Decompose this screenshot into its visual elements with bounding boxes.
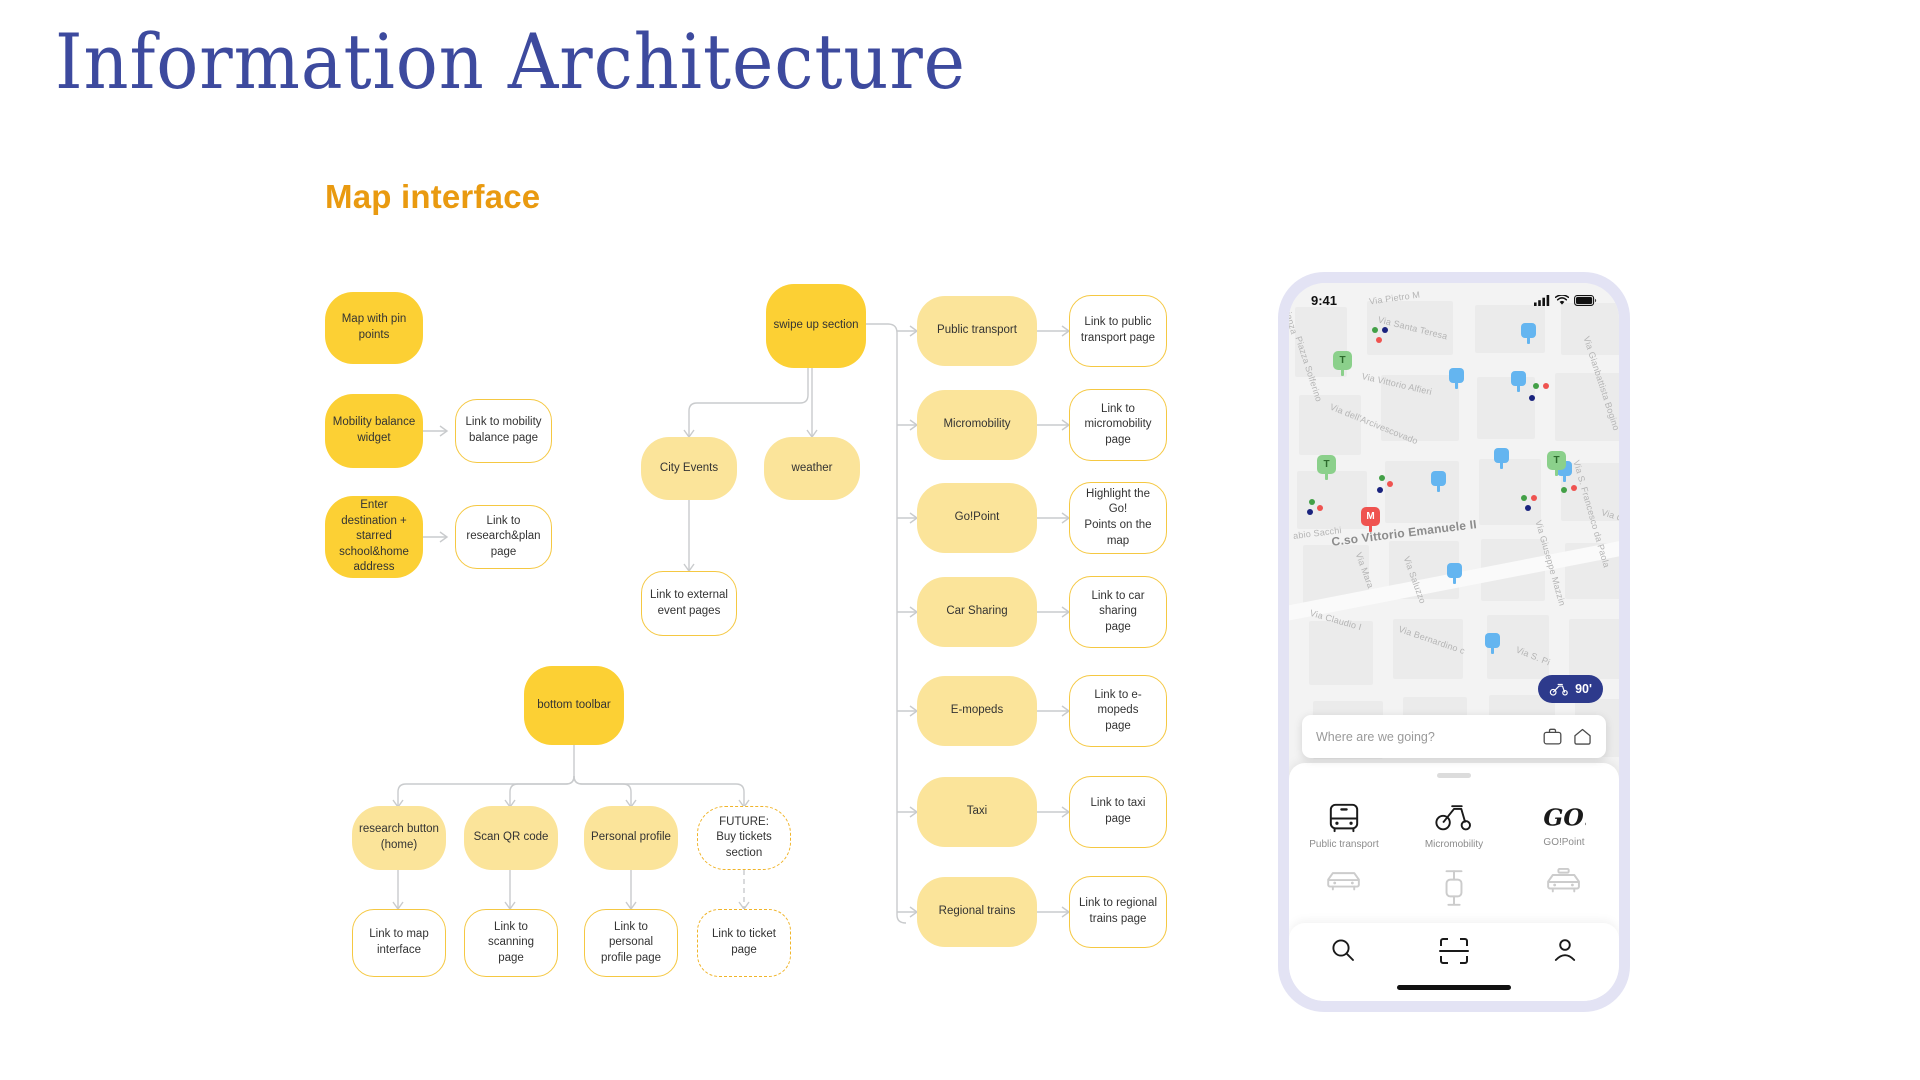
node-bottom-toolbar[interactable]: bottom toolbar bbox=[524, 666, 624, 745]
taxi-icon bbox=[1544, 868, 1584, 896]
eta-badge[interactable]: 90' bbox=[1538, 675, 1603, 703]
status-icons bbox=[1534, 295, 1597, 306]
cluster-dot[interactable] bbox=[1571, 485, 1577, 491]
node-link-mobility-balance[interactable]: Link to mobility balance page bbox=[455, 399, 552, 463]
car-icon bbox=[1324, 868, 1364, 894]
node-link-car-sharing[interactable]: Link to car sharing page bbox=[1069, 576, 1167, 648]
map-pin[interactable] bbox=[1449, 368, 1464, 383]
tab-profile[interactable] bbox=[1552, 937, 1578, 968]
node-link-personal-profile[interactable]: Link to personal profile page bbox=[584, 909, 678, 977]
t-marker[interactable]: T bbox=[1547, 451, 1566, 470]
m-marker[interactable]: M bbox=[1361, 507, 1380, 526]
mode-car-sharing[interactable] bbox=[1289, 861, 1399, 920]
cluster-dot[interactable] bbox=[1531, 495, 1537, 501]
eta-label: 90' bbox=[1575, 682, 1592, 696]
node-link-ticket-page[interactable]: Link to ticket page bbox=[697, 909, 791, 977]
cluster-dot[interactable] bbox=[1382, 327, 1388, 333]
home-icon[interactable] bbox=[1573, 728, 1592, 745]
t-marker[interactable]: T bbox=[1333, 351, 1352, 370]
bottom-tab-bar bbox=[1289, 923, 1619, 1001]
node-research-button[interactable]: research button (home) bbox=[352, 806, 446, 870]
mode-label: Public transport bbox=[1309, 839, 1378, 850]
node-city-events[interactable]: City Events bbox=[641, 437, 737, 500]
qr-scan-icon bbox=[1439, 937, 1469, 965]
t-marker[interactable]: T bbox=[1317, 455, 1336, 474]
node-link-map-interface[interactable]: Link to map interface bbox=[352, 909, 446, 977]
cluster-dot[interactable] bbox=[1317, 505, 1323, 511]
briefcase-icon[interactable] bbox=[1543, 728, 1562, 745]
node-car-sharing[interactable]: Car Sharing bbox=[917, 577, 1037, 647]
map-pin[interactable] bbox=[1447, 563, 1462, 578]
status-bar: 9:41 bbox=[1289, 283, 1619, 317]
node-link-external-event[interactable]: Link to external event pages bbox=[641, 571, 737, 636]
node-personal-profile[interactable]: Personal profile bbox=[584, 806, 678, 870]
node-weather[interactable]: weather bbox=[764, 437, 860, 500]
status-clock: 9:41 bbox=[1311, 293, 1337, 308]
signal-bars-icon bbox=[1534, 295, 1550, 306]
go-logo-icon: GO! bbox=[1542, 802, 1586, 832]
mode-label: GO!Point bbox=[1543, 837, 1584, 848]
map-view[interactable]: Via Pietro M Via Santa Teresa Piazza Sol… bbox=[1289, 283, 1619, 783]
node-map-pin-points[interactable]: Map with pin points bbox=[325, 292, 423, 364]
cluster-dot[interactable] bbox=[1533, 383, 1539, 389]
cluster-dot[interactable] bbox=[1309, 499, 1315, 505]
cluster-dot[interactable] bbox=[1376, 337, 1382, 343]
bus-icon bbox=[1326, 802, 1362, 834]
map-pin[interactable] bbox=[1511, 371, 1526, 386]
cluster-dot[interactable] bbox=[1377, 487, 1383, 493]
section-title: Map interface bbox=[325, 178, 540, 216]
battery-icon bbox=[1574, 295, 1597, 306]
cluster-dot[interactable] bbox=[1529, 395, 1535, 401]
node-link-scanning-page[interactable]: Link to scanning page bbox=[464, 909, 558, 977]
phone-screen: Via Pietro M Via Santa Teresa Piazza Sol… bbox=[1289, 283, 1619, 1001]
node-link-regional-trains[interactable]: Link to regional trains page bbox=[1069, 876, 1167, 948]
cluster-dot[interactable] bbox=[1561, 487, 1567, 493]
node-micromobility[interactable]: Micromobility bbox=[917, 390, 1037, 460]
node-future-buy-tickets[interactable]: FUTURE: Buy tickets section bbox=[697, 806, 791, 870]
mode-micromobility[interactable]: Micromobility bbox=[1399, 795, 1509, 857]
node-link-micromobility[interactable]: Link to micromobility page bbox=[1069, 389, 1167, 461]
sheet-grabber[interactable] bbox=[1437, 773, 1471, 778]
cluster-dot[interactable] bbox=[1372, 327, 1378, 333]
moped-icon bbox=[1434, 802, 1474, 834]
home-indicator bbox=[1397, 985, 1511, 990]
tab-scan[interactable] bbox=[1439, 937, 1469, 970]
mode-label: Micromobility bbox=[1425, 839, 1483, 850]
node-link-research-plan[interactable]: Link to research&plan page bbox=[455, 505, 552, 569]
node-go-point[interactable]: Go!Point bbox=[917, 483, 1037, 553]
cluster-dot[interactable] bbox=[1379, 475, 1385, 481]
node-mobility-balance-widget[interactable]: Mobility balance widget bbox=[325, 394, 423, 468]
node-link-taxi[interactable]: Link to taxi page bbox=[1069, 776, 1167, 848]
map-pin[interactable] bbox=[1431, 471, 1446, 486]
node-link-public-transport[interactable]: Link to public transport page bbox=[1069, 295, 1167, 367]
cluster-dot[interactable] bbox=[1543, 383, 1549, 389]
mode-scooter[interactable] bbox=[1399, 861, 1509, 920]
scooter-icon bbox=[1440, 868, 1468, 908]
map-pin[interactable] bbox=[1485, 633, 1500, 648]
node-swipe-up-section[interactable]: swipe up section bbox=[766, 284, 866, 368]
cluster-dot[interactable] bbox=[1525, 505, 1531, 511]
slide-canvas: Information Architecture Map interface bbox=[0, 0, 1920, 1080]
search-icon bbox=[1330, 937, 1356, 963]
moped-icon bbox=[1549, 683, 1569, 696]
wifi-icon bbox=[1555, 295, 1569, 306]
page-title: Information Architecture bbox=[55, 22, 966, 102]
node-link-go-point[interactable]: Highlight the Go! Points on the map bbox=[1069, 482, 1167, 554]
svg-text:GO!: GO! bbox=[1543, 803, 1586, 831]
node-e-mopeds[interactable]: E-mopeds bbox=[917, 676, 1037, 746]
mode-go-point[interactable]: GO! GO!Point bbox=[1509, 795, 1619, 857]
person-icon bbox=[1552, 937, 1578, 963]
mode-taxi[interactable] bbox=[1509, 861, 1619, 920]
node-scan-qr-code[interactable]: Scan QR code bbox=[464, 806, 558, 870]
map-pin[interactable] bbox=[1521, 323, 1536, 338]
bottom-sheet[interactable]: Public transport Micromobility bbox=[1289, 763, 1619, 1001]
tab-search[interactable] bbox=[1330, 937, 1356, 968]
map-pin[interactable] bbox=[1494, 448, 1509, 463]
phone-mockup: Via Pietro M Via Santa Teresa Piazza Sol… bbox=[1278, 272, 1630, 1012]
cluster-dot[interactable] bbox=[1307, 509, 1313, 515]
node-enter-destination[interactable]: Enter destination + starred school&home … bbox=[325, 496, 423, 578]
search-input-placeholder[interactable]: Where are we going? bbox=[1316, 730, 1435, 744]
node-regional-trains[interactable]: Regional trains bbox=[917, 877, 1037, 947]
transport-mode-grid: Public transport Micromobility bbox=[1289, 795, 1619, 920]
search-bar[interactable]: Where are we going? bbox=[1302, 715, 1606, 758]
mode-public-transport[interactable]: Public transport bbox=[1289, 795, 1399, 857]
node-public-transport[interactable]: Public transport bbox=[917, 296, 1037, 366]
node-taxi[interactable]: Taxi bbox=[917, 777, 1037, 847]
cluster-dot[interactable] bbox=[1521, 495, 1527, 501]
node-link-e-mopeds[interactable]: Link to e-mopeds page bbox=[1069, 675, 1167, 747]
cluster-dot[interactable] bbox=[1387, 481, 1393, 487]
